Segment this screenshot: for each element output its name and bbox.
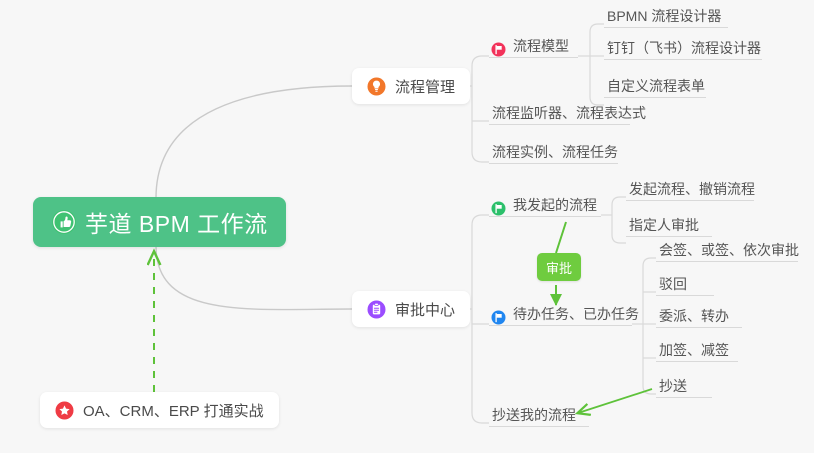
root-node[interactable]: 芋道 BPM 工作流	[33, 197, 286, 247]
node-label-bpmn-designer: BPMN 流程设计器	[607, 5, 721, 27]
node-carbon-copy[interactable]: 抄送	[656, 373, 712, 398]
node-label-process-model: 流程模型	[513, 35, 569, 57]
arrow-cc-flow	[578, 389, 652, 413]
node-label-process-instance-task: 流程实例、流程任务	[492, 141, 618, 163]
node-label-cc-to-me-process: 抄送我的流程	[492, 404, 576, 426]
node-label-carbon-copy: 抄送	[659, 375, 687, 397]
clipboard-circle-icon	[367, 300, 386, 319]
node-assignee-approval[interactable]: 指定人审批	[626, 212, 712, 237]
node-countersign-orsign-sequential[interactable]: 会签、或签、依次审批	[656, 237, 798, 262]
node-label-reject: 驳回	[659, 273, 687, 295]
node-custom-process-form[interactable]: 自定义流程表单	[604, 73, 706, 98]
star-circle-icon	[55, 401, 74, 420]
node-label-dingtalk-feishu-designer: 钉钉（飞书）流程设计器	[607, 37, 761, 59]
floating-node-integration-practice[interactable]: OA、CRM、ERP 打通实战	[40, 392, 279, 428]
node-label-my-started-process: 我发起的流程	[513, 194, 597, 216]
branch-label-process-management: 流程管理	[395, 76, 455, 97]
node-reject[interactable]: 驳回	[656, 271, 714, 296]
node-dingtalk-feishu-designer[interactable]: 钉钉（飞书）流程设计器	[604, 35, 762, 60]
flag-circle-icon-green	[491, 201, 506, 216]
flag-circle-icon-blue	[491, 310, 506, 325]
root-node-label: 芋道 BPM 工作流	[85, 205, 268, 239]
floating-node-label-integration-practice: OA、CRM、ERP 打通实战	[83, 400, 264, 421]
node-delegate-transfer[interactable]: 委派、转办	[656, 303, 742, 328]
node-label-countersign-orsign-sequential: 会签、或签、依次审批	[659, 239, 799, 261]
node-bpmn-designer[interactable]: BPMN 流程设计器	[604, 3, 728, 28]
node-add-remove-sign[interactable]: 加签、减签	[656, 337, 738, 362]
branch-label-approval-center: 审批中心	[395, 299, 455, 320]
branch-node-process-management[interactable]: 流程管理	[352, 68, 470, 104]
todo-done-task-connectors	[632, 258, 656, 394]
node-label-assignee-approval: 指定人审批	[629, 214, 699, 236]
node-start-cancel-process[interactable]: 发起流程、撤销流程	[626, 176, 754, 201]
my-started-process-connectors	[601, 197, 626, 243]
lightbulb-circle-icon	[367, 77, 386, 96]
node-label-custom-process-form: 自定义流程表单	[607, 75, 705, 97]
node-process-model[interactable]: 流程模型	[489, 33, 578, 58]
node-process-listener-expression[interactable]: 流程监听器、流程表达式	[489, 100, 630, 125]
node-todo-done-task[interactable]: 待办任务、已办任务	[489, 301, 632, 326]
node-label-todo-done-task: 待办任务、已办任务	[513, 303, 639, 325]
node-my-started-process[interactable]: 我发起的流程	[489, 192, 601, 217]
callout-approval-badge[interactable]: 审批	[537, 253, 581, 281]
thumbs-up-circle-icon	[51, 209, 77, 235]
node-label-add-remove-sign: 加签、减签	[659, 339, 729, 361]
node-label-delegate-transfer: 委派、转办	[659, 305, 729, 327]
callout-label-approval: 审批	[546, 258, 572, 277]
node-cc-to-me-process[interactable]: 抄送我的流程	[489, 402, 589, 427]
node-label-start-cancel-process: 发起流程、撤销流程	[629, 178, 755, 200]
branch-node-approval-center[interactable]: 审批中心	[352, 291, 470, 327]
process-model-connectors	[578, 24, 604, 105]
mindmap-canvas: 芋道 BPM 工作流 流程管理 流程模型 BPMN 流程设计器 钉钉（飞书）流	[0, 0, 814, 453]
flag-circle-icon-red	[491, 42, 506, 57]
node-label-process-listener-expression: 流程监听器、流程表达式	[492, 102, 646, 124]
node-process-instance-task[interactable]: 流程实例、流程任务	[489, 139, 618, 164]
